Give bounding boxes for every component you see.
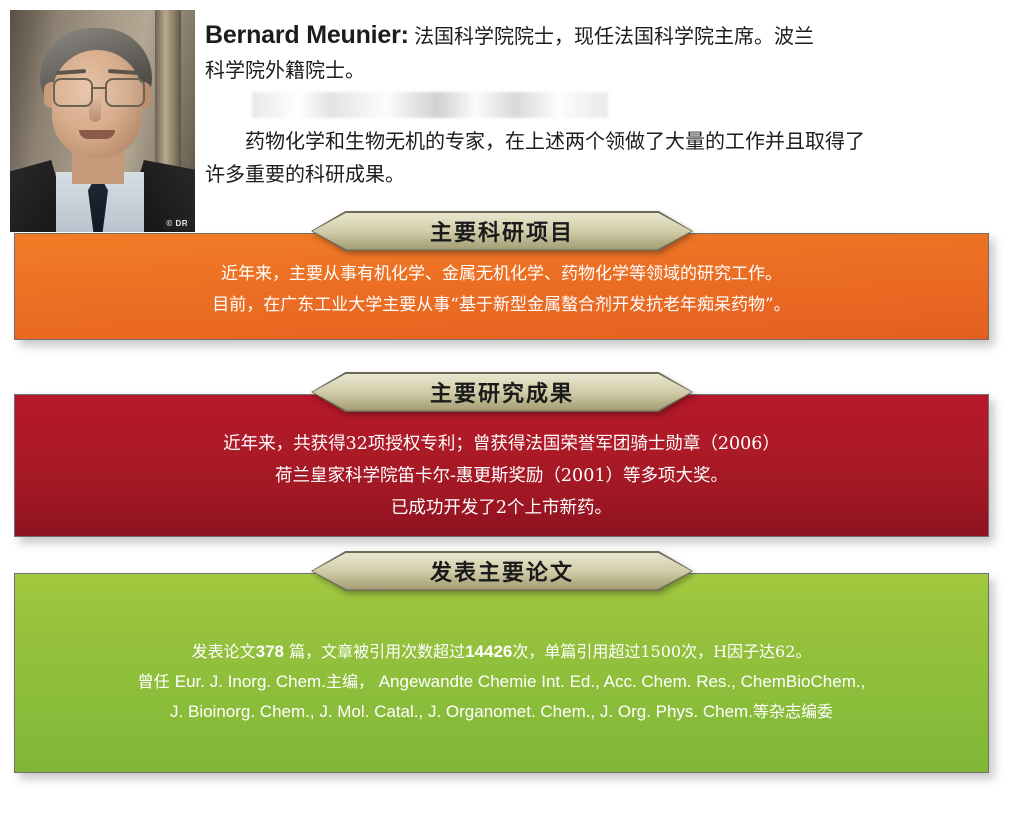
photo-glasses-bridge bbox=[91, 87, 107, 89]
editorial-suffix: 等杂志编委 bbox=[753, 702, 833, 721]
section-1-line-1: 近年来，主要从事有机化学、金属无机化学、药物化学等领域的研究工作。 bbox=[221, 259, 782, 290]
stats-prefix: 发表论文 bbox=[192, 642, 256, 661]
editorial-line-2: J. Bioinorg. Chem., J. Mol. Catal., J. O… bbox=[170, 697, 833, 727]
section-1-line-2: 目前，在广东工业大学主要从事“基于新型金属螯合剂开发抗老年痴呆药物”。 bbox=[212, 290, 790, 321]
section-2-line-3: 已成功开发了2个上市新药。 bbox=[391, 492, 612, 524]
name-colon: : bbox=[401, 21, 409, 49]
publication-stats-line: 发表论文378 篇，文章被引用次数超过14426次，单篇引用超过1500次，H因… bbox=[192, 637, 812, 667]
photo-lens-right bbox=[105, 78, 145, 107]
stats-mid-2: 次，单篇引用超过1500次，H因子达62。 bbox=[512, 642, 811, 661]
photo-nose bbox=[89, 96, 101, 122]
profile-intro: Bernard Meunier: 法国科学院院士，现任法国科学院主席。波兰 科学… bbox=[205, 18, 1005, 87]
slide-canvas: © DR Bernard Meunier: 法国科学院院士，现任法国科学院主席。… bbox=[0, 0, 1018, 817]
section-2-line-1: 近年来，共获得32项授权专利；曾获得法国荣誉军团骑士勋章（2006） bbox=[223, 428, 780, 460]
journal-list-line-3: J. Bioinorg. Chem., J. Mol. Catal., J. O… bbox=[170, 702, 753, 721]
editorial-line-1: 曾任 Eur. J. Inorg. Chem.主编， Angewandte Ch… bbox=[138, 667, 866, 697]
section-panel-research-achievements: 近年来，共获得32项授权专利；曾获得法国荣誉军团骑士勋章（2006） 荷兰皇家科… bbox=[14, 394, 989, 537]
section-banner-publications: 发表主要论文 bbox=[311, 551, 693, 591]
banner-label-1: 主要科研项目 bbox=[311, 211, 693, 251]
journal-list-line-2: Angewandte Chemie Int. Ed., Acc. Chem. R… bbox=[374, 672, 865, 691]
photo-watermark: © DR bbox=[163, 218, 191, 229]
bio-line-1: 药物化学和生物无机的专家，在上述两个领做了大量的工作并且取得了 bbox=[245, 129, 865, 153]
section-panel-publications: 发表论文378 篇，文章被引用次数超过14426次，单篇引用超过1500次，H因… bbox=[14, 573, 989, 773]
redacted-text-block bbox=[252, 92, 608, 118]
profile-name-line: Bernard Meunier: 法国科学院院士，现任法国科学院主席。波兰 bbox=[205, 18, 1005, 53]
editorial-prefix: 曾任 bbox=[138, 672, 175, 691]
section-body-publications: 发表论文378 篇，文章被引用次数超过14426次，单篇引用超过1500次，H因… bbox=[15, 574, 988, 772]
banner-label-3: 发表主要论文 bbox=[311, 551, 693, 591]
banner-label-2: 主要研究成果 bbox=[311, 372, 693, 412]
bio-line-2: 许多重要的科研成果。 bbox=[205, 162, 405, 186]
profile-bio: 药物化学和生物无机的专家，在上述两个领做了大量的工作并且取得了 许多重要的科研成… bbox=[205, 125, 1005, 191]
photo-lens-left bbox=[53, 78, 93, 107]
journal-primary: Eur. J. Inorg. Chem. bbox=[175, 672, 326, 691]
citation-count: 14426 bbox=[465, 642, 512, 661]
photo-mouth bbox=[79, 130, 115, 139]
portrait-photo: © DR bbox=[10, 10, 195, 232]
stats-mid-1: 篇，文章被引用次数超过 bbox=[284, 642, 465, 661]
person-name: Bernard Meunier bbox=[205, 21, 401, 49]
person-title-line-2: 科学院外籍院士。 bbox=[205, 53, 1005, 87]
paper-count: 378 bbox=[256, 642, 284, 661]
section-banner-research-projects: 主要科研项目 bbox=[311, 211, 693, 251]
section-banner-research-achievements: 主要研究成果 bbox=[311, 372, 693, 412]
person-title-line-1: 法国科学院院士，现任法国科学院主席。波兰 bbox=[414, 24, 814, 48]
section-2-line-2: 荷兰皇家科学院笛卡尔-惠更斯奖励（2001）等多项大奖。 bbox=[275, 460, 728, 492]
section-body-research-achievements: 近年来，共获得32项授权专利；曾获得法国荣誉军团骑士勋章（2006） 荷兰皇家科… bbox=[15, 395, 988, 536]
editorial-role: 主编， bbox=[326, 672, 374, 691]
